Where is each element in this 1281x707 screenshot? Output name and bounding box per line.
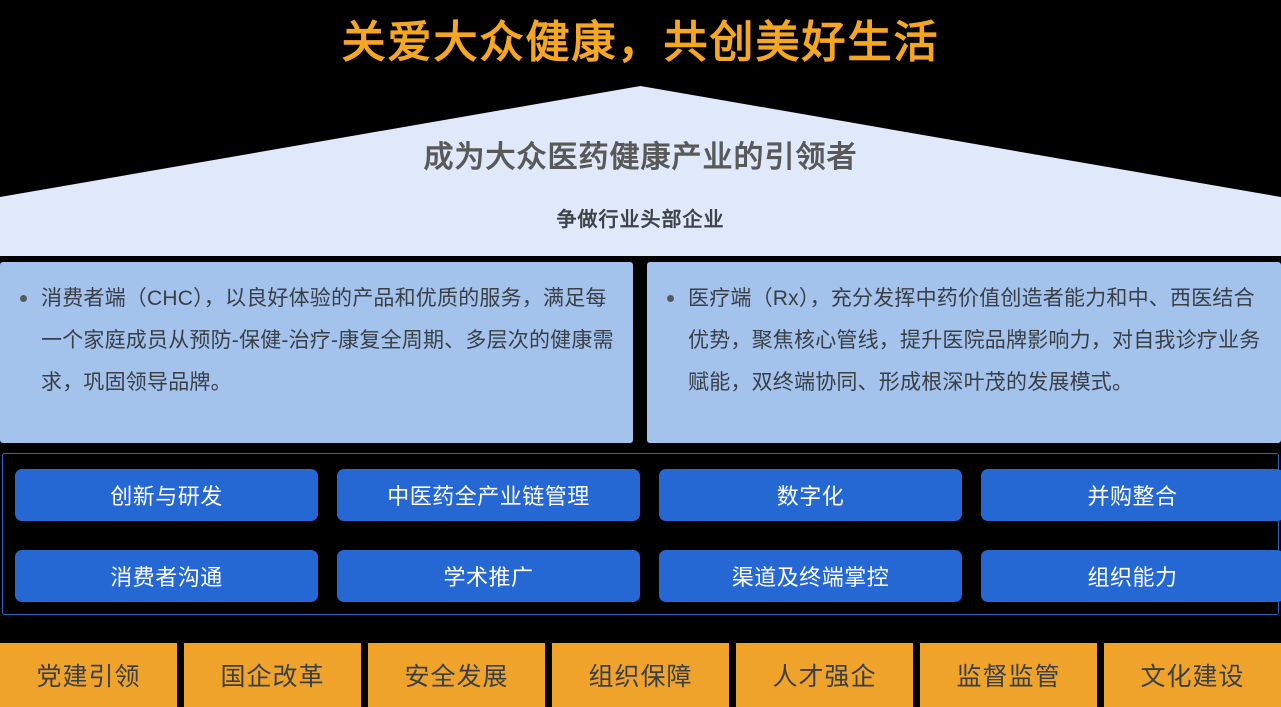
strategy-panel-rx: 医疗端（Rx），充分发挥中药价值创造者能力和中、西医结合优势，聚焦核心管线，提升… bbox=[647, 262, 1281, 443]
capability-button[interactable]: 创新与研发 bbox=[15, 469, 318, 521]
foundation-strip: 党建引领 国企改革 安全发展 组织保障 人才强企 监督监管 文化建设 bbox=[0, 643, 1281, 707]
roof-content: 成为大众医药健康产业的引领者 争做行业头部企业 bbox=[0, 86, 1281, 256]
foundation-item[interactable]: 监督监管 bbox=[920, 643, 1097, 707]
page-title: 关爱大众健康，共创美好生活 bbox=[342, 21, 940, 65]
strategy-panels: 消费者端（CHC），以良好体验的产品和优质的服务，满足每一个家庭成员从预防-保健… bbox=[0, 262, 1281, 443]
capabilities-row: 创新与研发 中医药全产业链管理 数字化 并购整合 bbox=[15, 469, 1266, 521]
strategy-panel-chc: 消费者端（CHC），以良好体验的产品和优质的服务，满足每一个家庭成员从预防-保健… bbox=[0, 262, 633, 443]
capability-button[interactable]: 组织能力 bbox=[981, 550, 1281, 602]
vision-roof: 成为大众医药健康产业的引领者 争做行业头部企业 bbox=[0, 86, 1281, 256]
foundation-item[interactable]: 安全发展 bbox=[368, 643, 545, 707]
vision-statement-secondary: 争做行业头部企业 bbox=[0, 208, 1281, 232]
capability-button[interactable]: 并购整合 bbox=[981, 469, 1281, 521]
strategy-panel-rx-text: 医疗端（Rx），充分发挥中药价值创造者能力和中、西医结合优势，聚焦核心管线，提升… bbox=[688, 278, 1263, 404]
capability-button[interactable]: 学术推广 bbox=[337, 550, 640, 602]
vision-statement-primary: 成为大众医药健康产业的引领者 bbox=[0, 140, 1281, 176]
foundation-item[interactable]: 国企改革 bbox=[184, 643, 361, 707]
foundation-item[interactable]: 组织保障 bbox=[552, 643, 729, 707]
capabilities-row: 消费者沟通 学术推广 渠道及终端掌控 组织能力 bbox=[15, 550, 1266, 602]
foundation-item[interactable]: 文化建设 bbox=[1104, 643, 1281, 707]
foundation-item[interactable]: 人才强企 bbox=[736, 643, 913, 707]
capability-button[interactable]: 数字化 bbox=[659, 469, 962, 521]
capability-button[interactable]: 消费者沟通 bbox=[15, 550, 318, 602]
strategy-panel-chc-text: 消费者端（CHC），以良好体验的产品和优质的服务，满足每一个家庭成员从预防-保健… bbox=[41, 278, 615, 404]
capability-button[interactable]: 中医药全产业链管理 bbox=[337, 469, 640, 521]
bullet-icon bbox=[667, 295, 674, 302]
foundation-item[interactable]: 党建引领 bbox=[0, 643, 177, 707]
strategy-pyramid-slide: 关爱大众健康，共创美好生活 成为大众医药健康产业的引领者 争做行业头部企业 消费… bbox=[0, 0, 1281, 707]
capability-button[interactable]: 渠道及终端掌控 bbox=[659, 550, 962, 602]
capabilities-container: 创新与研发 中医药全产业链管理 数字化 并购整合 消费者沟通 学术推广 渠道及终… bbox=[2, 453, 1279, 615]
slide-title-bar: 关爱大众健康，共创美好生活 bbox=[0, 0, 1281, 86]
bullet-icon bbox=[20, 295, 27, 302]
